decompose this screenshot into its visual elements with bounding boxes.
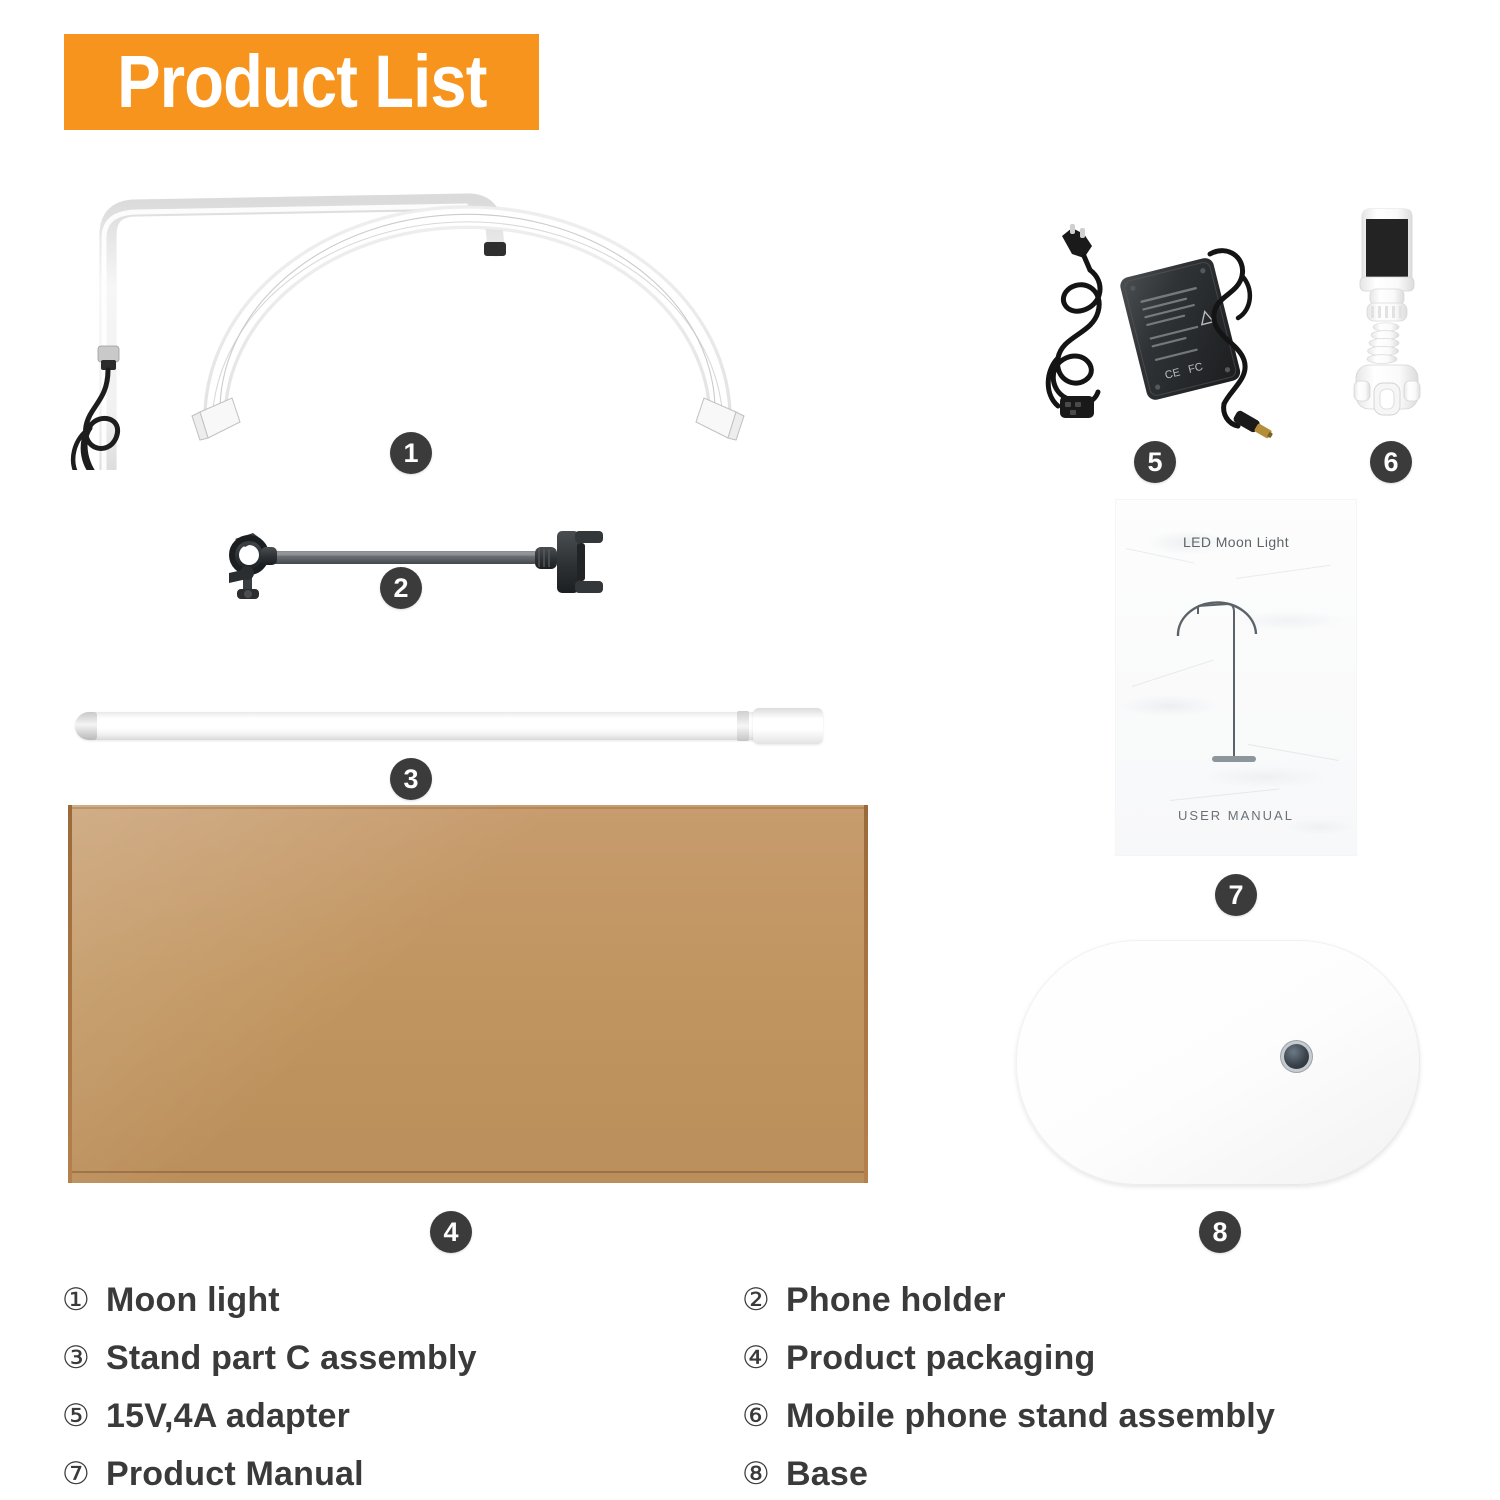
- box-edge-right: [864, 805, 868, 1183]
- pole-body: [75, 712, 775, 740]
- badge-5: 5: [1134, 441, 1176, 483]
- legend-item-5: ⑤ 15V,4A adapter: [62, 1394, 742, 1438]
- badge-3: 3: [390, 758, 432, 800]
- header-banner: Product List: [64, 34, 539, 130]
- legend-marker-5: ⑤: [62, 1401, 106, 1432]
- product-mobile-phone-stand-assembly: [1340, 205, 1450, 435]
- badge-7: 7: [1215, 874, 1257, 916]
- pole-collar-ring: [737, 711, 749, 741]
- box-fold-top: [72, 807, 864, 809]
- base-socket: [1284, 1044, 1309, 1069]
- legend-item-6: ⑥ Mobile phone stand assembly: [742, 1394, 1422, 1438]
- badge-6: 6: [1370, 441, 1412, 483]
- product-stand-part-c: 3: [65, 700, 825, 755]
- legend-marker-3: ③: [62, 1343, 106, 1374]
- pole-collar-right: [753, 708, 823, 744]
- legend-label-4: Product packaging: [786, 1339, 1095, 1378]
- box-face: [68, 805, 868, 1183]
- legend-marker-2: ②: [742, 1285, 786, 1316]
- legend-label-2: Phone holder: [786, 1281, 1006, 1320]
- badge-4: 4: [430, 1211, 472, 1253]
- badge-1: 1: [390, 432, 432, 474]
- legend-label-7: Product Manual: [106, 1455, 364, 1494]
- base-plate: [1016, 940, 1420, 1185]
- manual-title: LED Moon Light: [1116, 534, 1356, 550]
- legend-label-1: Moon light: [106, 1281, 280, 1320]
- legend-item-1: ① Moon light: [62, 1278, 742, 1322]
- badge-8: 8: [1199, 1211, 1241, 1253]
- legend-label-3: Stand part C assembly: [106, 1339, 477, 1378]
- box-edge-left: [68, 805, 72, 1183]
- pole-ferrule-left: [75, 712, 97, 740]
- phone-stand-illustration: [1340, 205, 1450, 435]
- legend-marker-7: ⑦: [62, 1459, 106, 1490]
- product-packaging-box: [68, 805, 868, 1183]
- product-phone-holder: 2: [205, 525, 615, 615]
- product-moon-light: 1: [60, 150, 820, 470]
- page-title: Product List: [117, 45, 486, 119]
- legend-item-7: ⑦ Product Manual: [62, 1452, 742, 1496]
- adapter-illustration: CE FC: [1032, 218, 1290, 443]
- badge-2: 2: [380, 567, 422, 609]
- legend-item-8: ⑧ Base: [742, 1452, 1422, 1496]
- legend-label-8: Base: [786, 1455, 868, 1494]
- legend-label-5: 15V,4A adapter: [106, 1397, 350, 1436]
- legend-item-4: ④ Product packaging: [742, 1336, 1422, 1380]
- legend-marker-8: ⑧: [742, 1459, 786, 1490]
- legend-item-2: ② Phone holder: [742, 1278, 1422, 1322]
- legend-item-3: ③ Stand part C assembly: [62, 1336, 742, 1380]
- moon-light-illustration: [60, 150, 820, 470]
- legend-marker-6: ⑥: [742, 1401, 786, 1432]
- legend-label-6: Mobile phone stand assembly: [786, 1397, 1275, 1436]
- product-manual: LED Moon Light USER MANUAL: [1116, 500, 1356, 855]
- legend: ① Moon light ② Phone holder ③ Stand part…: [62, 1278, 1462, 1496]
- manual-lamp-drawing: [1116, 588, 1356, 788]
- product-power-adapter: CE FC: [1032, 218, 1290, 443]
- box-fold-bottom: [72, 1171, 864, 1173]
- manual-footer: USER MANUAL: [1116, 808, 1356, 823]
- product-base: [1016, 940, 1420, 1185]
- legend-marker-1: ①: [62, 1285, 106, 1316]
- legend-marker-4: ④: [742, 1343, 786, 1374]
